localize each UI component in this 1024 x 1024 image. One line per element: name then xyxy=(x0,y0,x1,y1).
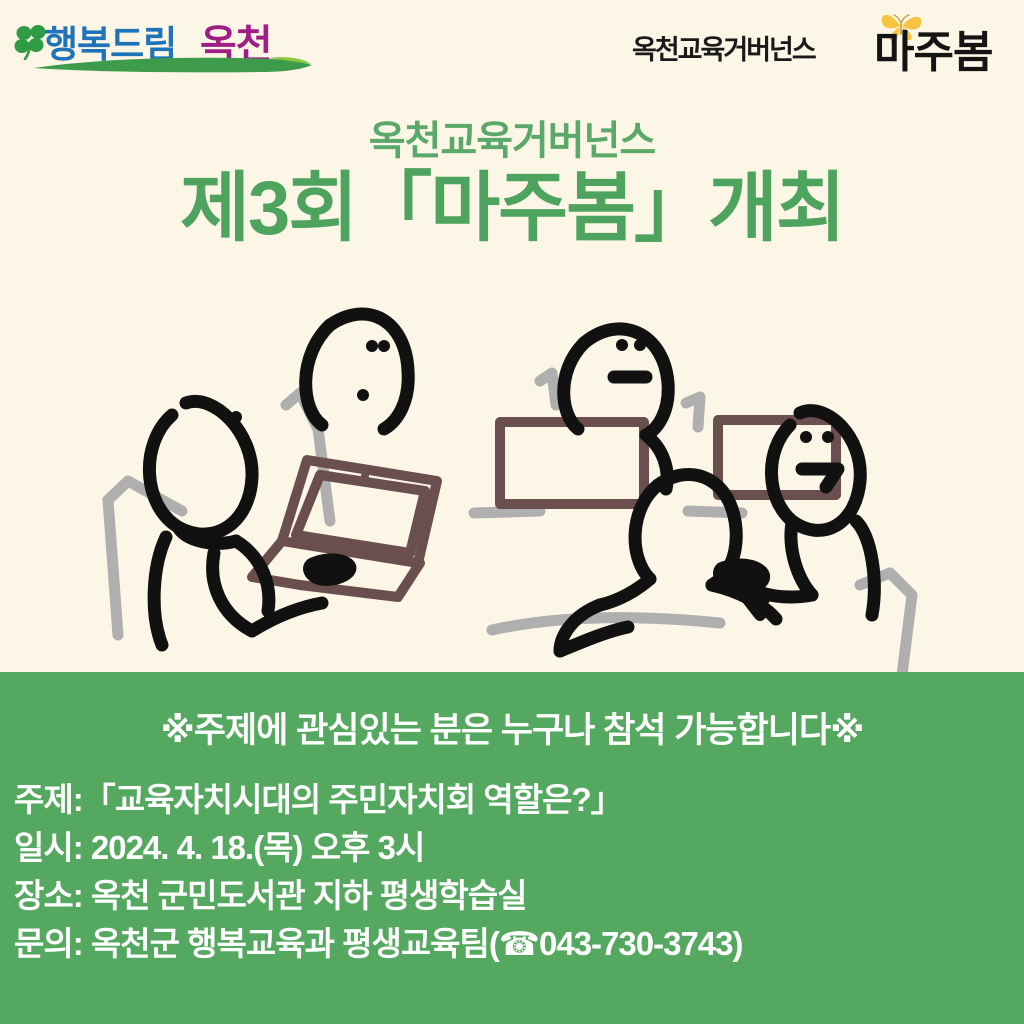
detail-topic: 주제:「교육자치시대의 주민자치회 역할은?」 xyxy=(14,776,1014,824)
mouse-icon-left xyxy=(303,553,356,586)
meeting-illustration xyxy=(0,285,1024,675)
brand-logo-majubom: 옥천교육거버넌스 마주봄 xyxy=(616,10,1016,80)
details-list: 주제:「교육자치시대의 주민자치회 역할은?」 일시: 2024. 4. 18.… xyxy=(14,776,1014,968)
person-figure-3 xyxy=(564,329,668,489)
brand-logo-okcheon-county: 행복드림 옥천 xyxy=(14,10,314,72)
detail-contact: 문의: 옥천군 행복교육과 평생교육팀(☎043-730-3743) xyxy=(14,920,1014,968)
info-band: ※주제에 관심있는 분은 누구나 참석 가능합니다※ 주제:「교육자치시대의 주… xyxy=(0,672,1024,1024)
poster-canvas: 행복드림 옥천 옥천교육거버넌스 마주봄 옥천교육거버넌스 제3회「마주봄」개최 xyxy=(0,0,1024,1024)
brand-text-majubom: 마주봄 xyxy=(874,16,992,80)
chair-icon-center xyxy=(474,373,742,513)
chair-icon-right xyxy=(860,573,912,675)
brand-text-governance: 옥천교육거버넌스 xyxy=(632,28,815,67)
page-title: 제3회「마주봄」개최 xyxy=(0,166,1024,251)
detail-datetime: 일시: 2024. 4. 18.(목) 오후 3시 xyxy=(14,824,1014,872)
detail-location: 장소: 옥천 군민도서관 지하 평생학습실 xyxy=(14,872,1014,920)
monitor-icon-center xyxy=(500,422,644,504)
swoosh-icon xyxy=(32,52,314,74)
person-figure-2 xyxy=(306,314,409,429)
headline-kicker: 옥천교육거버넌스 xyxy=(0,118,1024,164)
headline-block: 옥천교육거버넌스 제3회「마주봄」개최 xyxy=(0,118,1024,251)
chair-icon-far-left xyxy=(108,481,182,635)
notice-text: ※주제에 관심있는 분은 누구나 참석 가능합니다※ xyxy=(0,702,1024,753)
